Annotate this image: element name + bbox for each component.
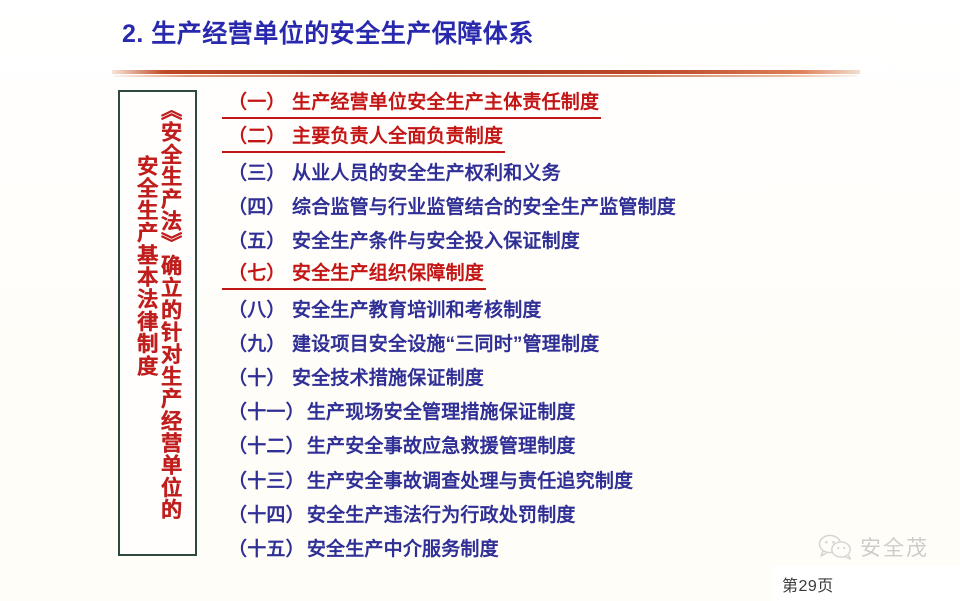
list-item-number: （一）: [228, 87, 290, 114]
list-item-label: 主要负责人全面负责制度: [292, 126, 503, 147]
vertical-caption-column-right: 《安全生产法》确立的针对生产经营单位的: [159, 99, 181, 521]
list-item: （三）从业人员的安全生产权利和义务: [228, 154, 828, 188]
list-item-number: （三）: [228, 158, 290, 185]
list-item-content: （十二）生产安全事故应急救援管理制度: [228, 431, 576, 458]
list-item-number: （十二）: [228, 431, 305, 458]
list-item-content: （十三）生产安全事故调查处理与责任追究制度: [228, 466, 633, 493]
list-item: （七）安全生产组织保障制度: [228, 257, 828, 291]
list-item-number: （十四）: [228, 500, 305, 527]
list-item-label: 安全生产组织保障制度: [292, 263, 484, 284]
list-item-content: （三）从业人员的安全生产权利和义务: [228, 158, 561, 185]
decorative-rule-thick: [112, 70, 860, 74]
list-item-number: （十三）: [228, 466, 305, 493]
list-item-label: 从业人员的安全生产权利和义务: [292, 163, 561, 184]
list-item-label: 安全生产条件与安全投入保证制度: [292, 231, 580, 252]
list-item: （十）安全技术措施保证制度: [228, 360, 828, 394]
list-item-content: （十一）生产现场安全管理措施保证制度: [228, 397, 576, 424]
list-item-content: （四）综合监管与行业监管结合的安全生产监管制度: [228, 192, 676, 219]
list-item-number: （十五）: [228, 534, 305, 561]
list-item: （一）生产经营单位安全生产主体责任制度: [228, 86, 828, 120]
list-item: （十三）生产安全事故调查处理与责任追究制度: [228, 462, 828, 496]
page-title: 2. 生产经营单位的安全生产保障体系: [122, 14, 534, 50]
list-item-content: （八）安全生产教育培训和考核制度: [228, 295, 542, 322]
list-item-content: （十四）安全生产违法行为行政处罚制度: [228, 500, 576, 527]
list-item-content: （十）安全技术措施保证制度: [228, 363, 484, 390]
list-item-label: 生产现场安全管理措施保证制度: [307, 402, 576, 423]
list-item: （四）综合监管与行业监管结合的安全生产监管制度: [228, 189, 828, 223]
list-item: （十五）安全生产中介服务制度: [228, 530, 828, 564]
list-item-number: （十一）: [228, 397, 305, 424]
list-item: （八）安全生产教育培训和考核制度: [228, 291, 828, 325]
list-item-number: （五）: [228, 226, 290, 253]
list-item-content: （一）生产经营单位安全生产主体责任制度: [222, 87, 601, 119]
list-item-label: 安全技术措施保证制度: [292, 368, 484, 389]
vertical-caption-box: 《安全生产法》确立的针对生产经营单位的 安全生产基本法律制度: [118, 90, 197, 556]
list-item-number: （九）: [228, 329, 290, 356]
list-item: （十四）安全生产违法行为行政处罚制度: [228, 496, 828, 530]
list-item-label: 安全生产中介服务制度: [307, 539, 499, 560]
list-item-number: （二）: [228, 121, 290, 148]
list-item-number: （七）: [228, 258, 290, 285]
list-item-number: （八）: [228, 295, 290, 322]
list-item-content: （七）安全生产组织保障制度: [222, 258, 486, 290]
list-item: （十一）生产现场安全管理措施保证制度: [228, 394, 828, 428]
list-item-number: （十）: [228, 363, 290, 390]
list-item-content: （五）安全生产条件与安全投入保证制度: [228, 226, 580, 253]
list-item-label: 建设项目安全设施“三同时”管理制度: [292, 334, 599, 355]
list-item-content: （十五）安全生产中介服务制度: [228, 534, 499, 561]
list-item-content: （九）建设项目安全设施“三同时”管理制度: [228, 329, 599, 356]
vertical-caption-column-left: 安全生产基本法律制度: [135, 99, 157, 377]
list-item-label: 安全生产教育培训和考核制度: [292, 300, 542, 321]
list-item-label: 生产安全事故应急救援管理制度: [307, 436, 576, 457]
list-item: （二）主要负责人全面负责制度: [228, 120, 828, 154]
list-item-number: （四）: [228, 192, 290, 219]
list-item: （五）安全生产条件与安全投入保证制度: [228, 223, 828, 257]
list-item-label: 生产安全事故调查处理与责任追究制度: [307, 471, 633, 492]
page-number: 第29页: [782, 572, 834, 596]
list-item: （十二）生产安全事故应急救援管理制度: [228, 428, 828, 462]
list-item-content: （二）主要负责人全面负责制度: [222, 121, 505, 153]
institution-list: （一）生产经营单位安全生产主体责任制度（二）主要负责人全面负责制度（三）从业人员…: [228, 86, 828, 565]
watermark: 安全茂: [818, 532, 929, 562]
decorative-rule-thin: [114, 75, 858, 77]
watermark-label: 安全茂: [860, 532, 929, 562]
list-item: （九）建设项目安全设施“三同时”管理制度: [228, 325, 828, 359]
decorative-rule: [112, 70, 860, 79]
list-item-label: 安全生产违法行为行政处罚制度: [307, 505, 576, 526]
list-item-label: 综合监管与行业监管结合的安全生产监管制度: [292, 197, 676, 218]
list-item-label: 生产经营单位安全生产主体责任制度: [292, 92, 599, 113]
slide-canvas: 2. 生产经营单位的安全生产保障体系 《安全生产法》确立的针对生产经营单位的 安…: [0, 0, 960, 601]
